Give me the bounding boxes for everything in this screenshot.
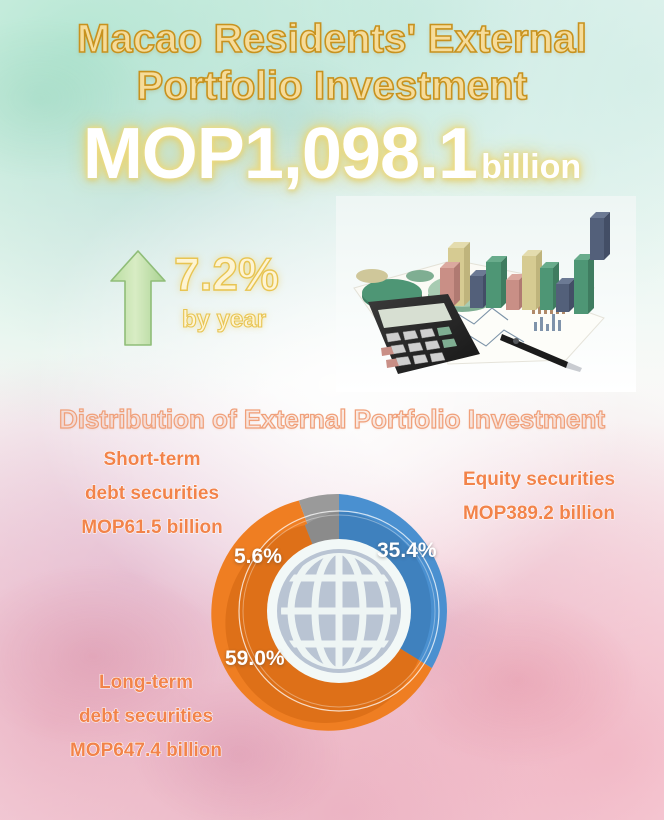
page-title: Macao Residents' External Portfolio Inve…: [0, 16, 664, 110]
headline-value: MOP1,098.1billion: [0, 118, 664, 190]
label-short-term-line1: Short-term: [36, 443, 268, 477]
donut-chart: [212, 484, 466, 738]
slice-label-short-term: 5.6%: [234, 546, 282, 567]
arrow-up-icon: [108, 248, 168, 348]
slice-label-equity: 35.4%: [377, 540, 437, 561]
infographic-poster: Macao Residents' External Portfolio Inve…: [0, 0, 664, 820]
growth-period: by year: [182, 306, 266, 334]
growth-percent: 7.2%: [174, 248, 279, 300]
growth-indicator: 7.2% by year: [96, 248, 326, 358]
headline-value-number: MOP1,098.1: [83, 114, 477, 194]
globe-icon: [279, 551, 399, 671]
section-title: Distribution of External Portfolio Inves…: [0, 403, 664, 435]
label-long-term-line3: MOP647.4 billion: [30, 734, 262, 768]
finance-photo: [336, 196, 636, 392]
headline-value-unit: billion: [481, 148, 581, 186]
slice-label-long-term: 59.0%: [225, 648, 285, 669]
